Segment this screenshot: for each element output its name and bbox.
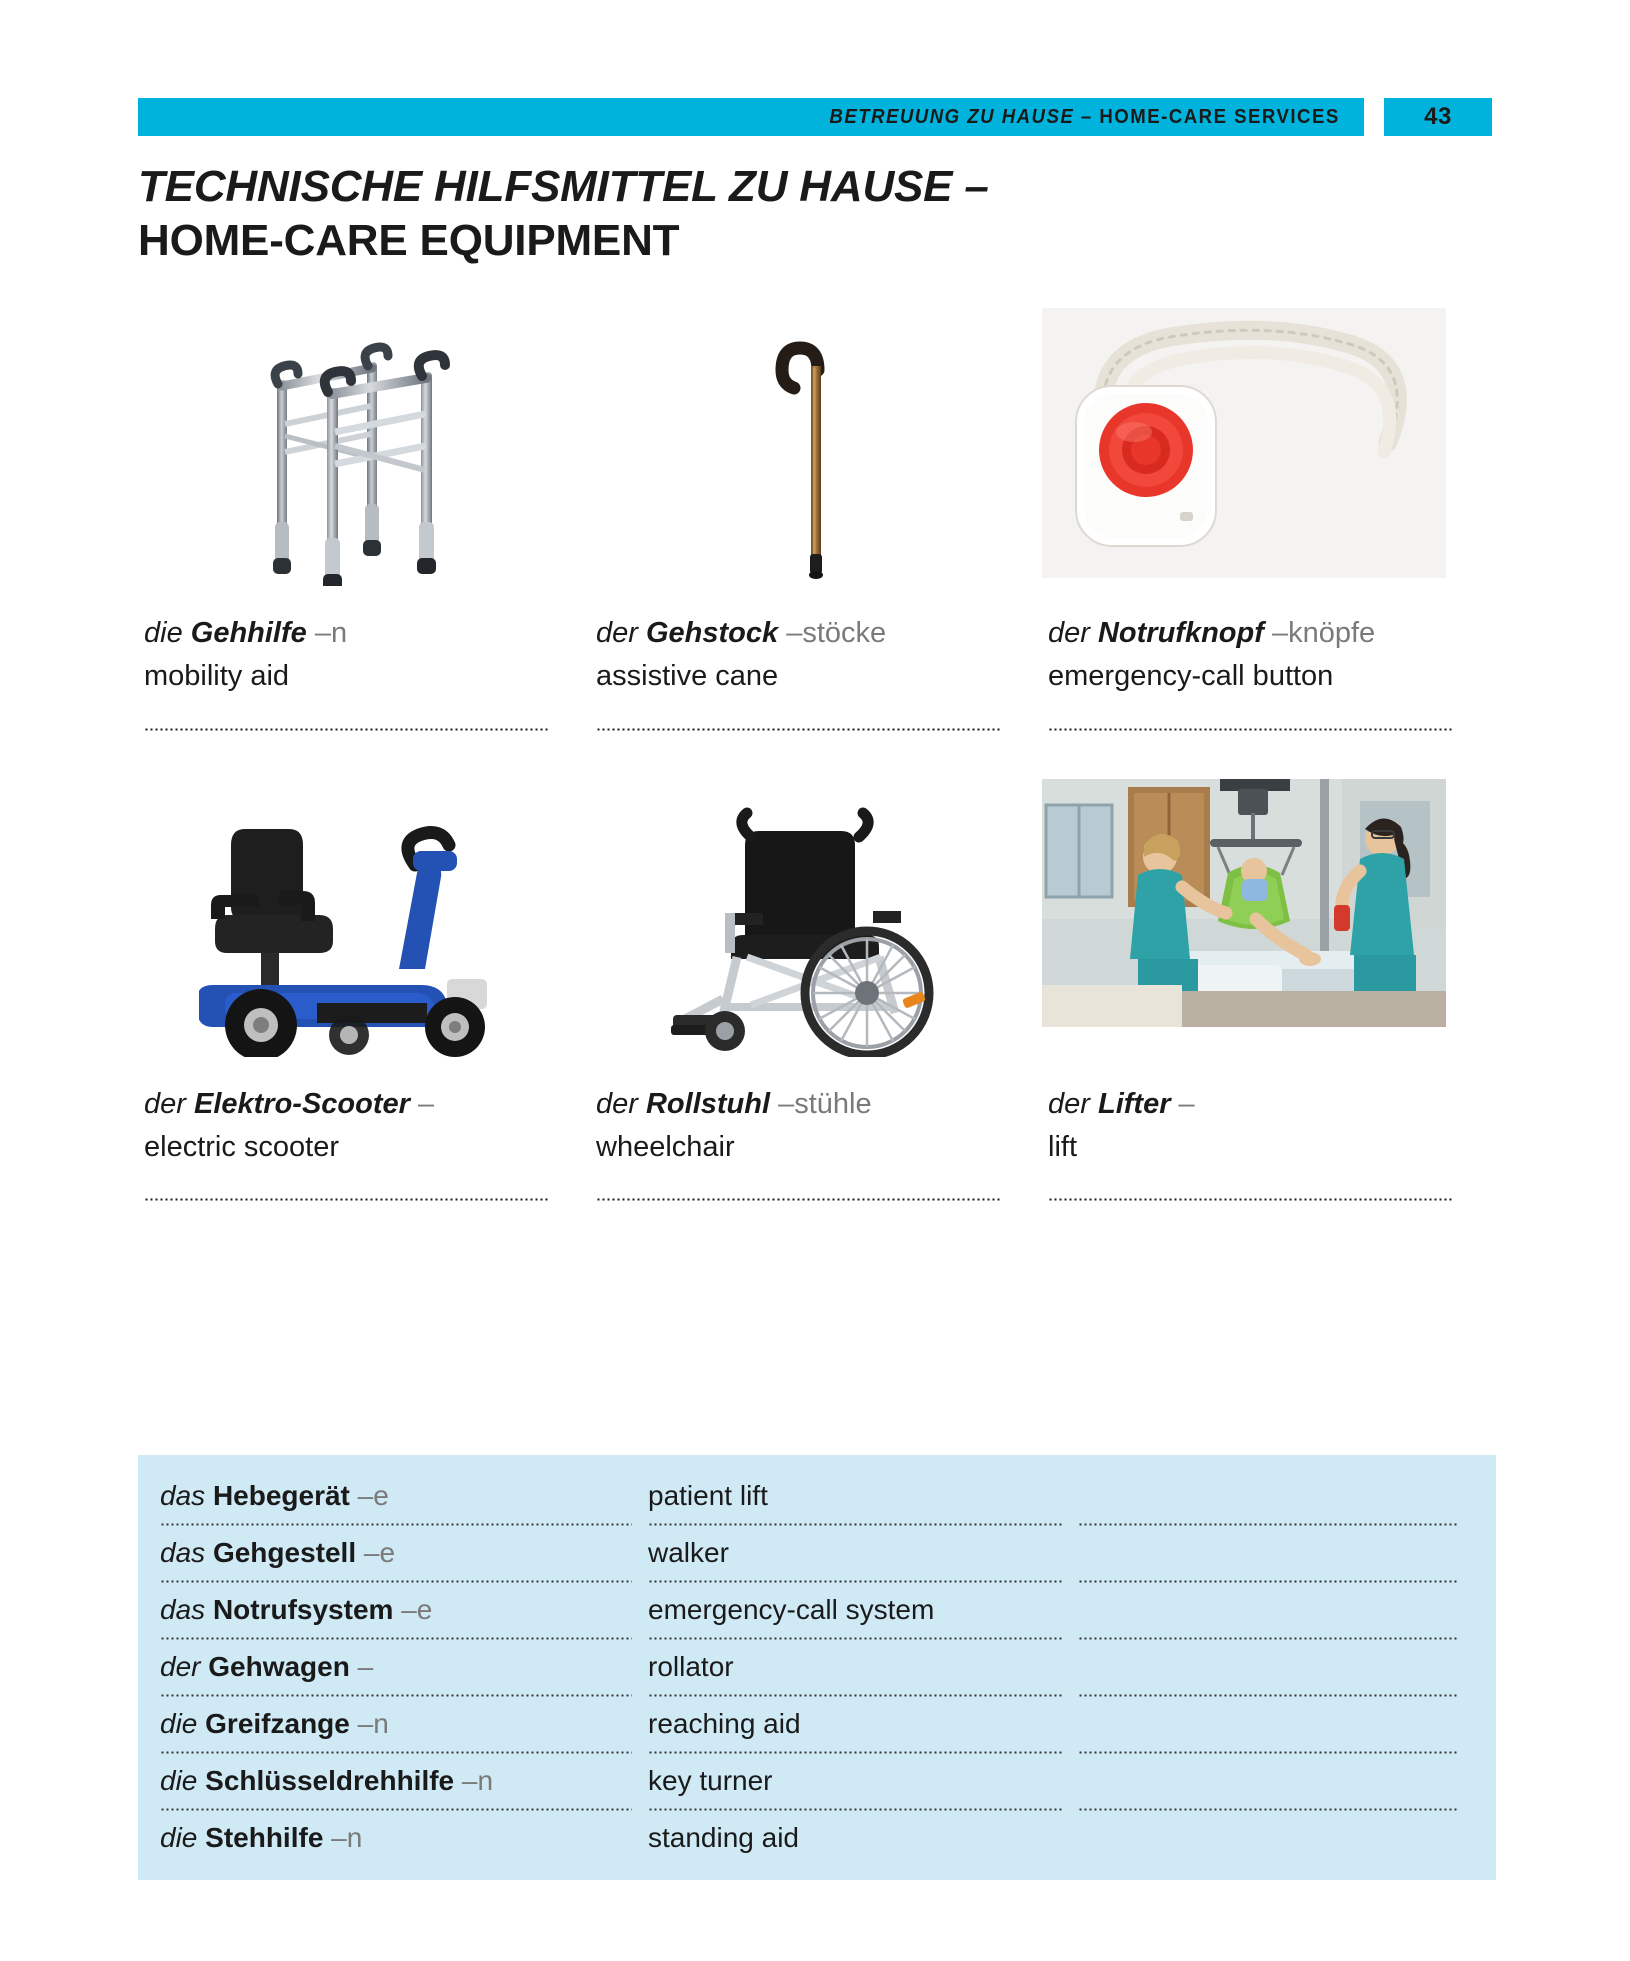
page-title-line-en: HOME-CARE EQUIPMENT <box>138 214 1338 268</box>
entry-term: die Gehhilfe –n <box>144 614 590 652</box>
table-noun: Notrufsystem <box>213 1594 393 1625</box>
table-cell-german: das Notrufsystem –e <box>160 1583 648 1640</box>
entry-article: der <box>596 1088 638 1120</box>
table-cell-notes[interactable] <box>1078 1697 1474 1754</box>
entry-divider <box>596 1198 1000 1201</box>
entry-row: der Elektro-Scooter – electric scooter <box>138 771 1496 1202</box>
entry-divider <box>596 728 1000 731</box>
entry-term: der Notrufknopf –knöpfe <box>1048 614 1494 652</box>
entry-plural: –stühle <box>778 1088 872 1120</box>
table-noun: Stehhilfe <box>205 1822 323 1853</box>
table-cell-english: emergency-call system <box>648 1583 1078 1640</box>
entry-caption: der Elektro-Scooter – electric scooter <box>138 1085 590 1167</box>
table-translation: emergency-call system <box>648 1594 934 1630</box>
entry-caption: der Lifter – lift <box>1042 1085 1494 1167</box>
entry-noun: Notrufknopf <box>1098 617 1264 649</box>
table-translation: standing aid <box>648 1822 799 1858</box>
table-article: das <box>160 1537 205 1568</box>
entry-row: die Gehhilfe –n mobility aid <box>138 300 1496 731</box>
table-term: die Schlüsseldrehhilfe –n <box>160 1765 493 1801</box>
entry-translation: assistive cane <box>596 657 1042 695</box>
table-article: das <box>160 1480 205 1511</box>
table-term: die Stehhilfe –n <box>160 1822 362 1858</box>
table-article: das <box>160 1594 205 1625</box>
table-cell-notes[interactable] <box>1078 1811 1474 1868</box>
table-cell-english: standing aid <box>648 1811 1078 1868</box>
table-cell-german: die Stehhilfe –n <box>160 1811 648 1868</box>
entry-translation: electric scooter <box>144 1128 590 1166</box>
table-row: die Greifzange –n reaching aid <box>138 1697 1496 1754</box>
walking-cane-icon <box>756 336 876 586</box>
table-row: der Gehwagen – rollator <box>138 1640 1496 1697</box>
mobility-scooter-icon <box>199 807 529 1057</box>
table-cell-notes[interactable] <box>1078 1583 1474 1640</box>
entry-caption: die Gehhilfe –n mobility aid <box>138 614 590 696</box>
table-row: die Schlüsseldrehhilfe –n key turner <box>138 1754 1496 1811</box>
table-article: die <box>160 1822 197 1853</box>
table-translation: patient lift <box>648 1480 768 1516</box>
table-term: das Hebegerät –e <box>160 1480 389 1516</box>
entry-article: der <box>1048 1088 1090 1120</box>
table-article: der <box>160 1651 200 1682</box>
table-plural: –n <box>358 1708 389 1739</box>
entry-figure <box>590 771 1042 1061</box>
table-term: der Gehwagen – <box>160 1651 373 1687</box>
entry-card-lifter: der Lifter – lift <box>1042 771 1494 1202</box>
table-noun: Greifzange <box>205 1708 350 1739</box>
table-cell-german: das Gehgestell –e <box>160 1526 648 1583</box>
entry-figure <box>138 300 590 590</box>
patient-lift-photo-icon <box>1042 779 1446 1027</box>
entry-noun: Elektro-Scooter <box>194 1088 410 1120</box>
entry-translation: emergency-call button <box>1048 657 1494 695</box>
entry-card-gehhilfe: die Gehhilfe –n mobility aid <box>138 300 590 731</box>
entry-divider <box>144 728 548 731</box>
table-cell-english: rollator <box>648 1640 1078 1697</box>
entry-term: der Lifter – <box>1048 1085 1494 1123</box>
emergency-call-button-icon <box>1042 308 1446 578</box>
entry-plural: – <box>418 1088 434 1120</box>
page-number-block: 43 <box>1384 98 1492 136</box>
entry-plural: –knöpfe <box>1272 617 1375 649</box>
table-cell-german: die Greifzange –n <box>160 1697 648 1754</box>
entry-caption: der Notrufknopf –knöpfe emergency-call b… <box>1042 614 1494 696</box>
patient-lift-photo <box>1042 779 1446 1049</box>
entry-noun: Lifter <box>1098 1088 1171 1120</box>
table-translation: reaching aid <box>648 1708 801 1744</box>
table-row: die Stehhilfe –n standing aid <box>138 1811 1496 1868</box>
entry-article: der <box>144 1088 186 1120</box>
table-cell-notes[interactable] <box>1078 1469 1474 1526</box>
running-header-title: BETREUUNG ZU HAUSE – HOME-CARE SERVICES <box>830 106 1340 129</box>
entry-caption: der Gehstock –stöcke assistive cane <box>590 614 1042 696</box>
table-plural: –e <box>358 1480 389 1511</box>
word-list-table: das Hebegerät –e patient lift das Gehges… <box>138 1455 1496 1880</box>
table-noun: Hebegerät <box>213 1480 350 1511</box>
entry-divider <box>144 1198 548 1201</box>
entry-divider <box>1048 1198 1452 1201</box>
table-translation: key turner <box>648 1765 773 1801</box>
entry-noun: Gehhilfe <box>191 617 307 649</box>
table-plural: –e <box>364 1537 395 1568</box>
table-plural: –n <box>331 1822 362 1853</box>
table-translation: walker <box>648 1537 729 1573</box>
entry-translation: wheelchair <box>596 1128 1042 1166</box>
entry-grid: die Gehhilfe –n mobility aid <box>138 300 1496 1201</box>
entry-noun: Rollstuhl <box>646 1088 770 1120</box>
entry-term: der Gehstock –stöcke <box>596 614 1042 652</box>
emergency-call-button-photo <box>1042 308 1446 578</box>
table-noun: Gehgestell <box>213 1537 356 1568</box>
table-row: das Notrufsystem –e emergency-call syste… <box>138 1583 1496 1640</box>
table-article: die <box>160 1708 197 1739</box>
table-noun: Schlüsseldrehhilfe <box>205 1765 454 1796</box>
table-cell-english: reaching aid <box>648 1697 1078 1754</box>
page-title: TECHNISCHE HILFSMITTEL ZU HAUSE – HOME-C… <box>138 160 1338 267</box>
table-cell-notes[interactable] <box>1078 1754 1474 1811</box>
table-cell-notes[interactable] <box>1078 1526 1474 1583</box>
entry-plural: –n <box>315 617 347 649</box>
table-article: die <box>160 1765 197 1796</box>
entry-figure <box>138 771 590 1061</box>
table-cell-notes[interactable] <box>1078 1640 1474 1697</box>
table-plural: –n <box>462 1765 493 1796</box>
table-term: das Notrufsystem –e <box>160 1594 432 1630</box>
table-cell-english: walker <box>648 1526 1078 1583</box>
entry-divider <box>1048 728 1452 731</box>
page-number: 43 <box>1424 103 1452 131</box>
running-header-title-en: HOME-CARE SERVICES <box>1100 106 1340 128</box>
table-cell-german: der Gehwagen – <box>160 1640 648 1697</box>
entry-term: der Rollstuhl –stühle <box>596 1085 1042 1123</box>
entry-figure <box>1042 771 1494 1061</box>
entry-card-rollstuhl: der Rollstuhl –stühle wheelchair <box>590 771 1042 1202</box>
entry-caption: der Rollstuhl –stühle wheelchair <box>590 1085 1042 1167</box>
table-row: das Gehgestell –e walker <box>138 1526 1496 1583</box>
running-header-title-de: BETREUUNG ZU HAUSE – <box>830 106 1100 128</box>
table-plural: –e <box>401 1594 432 1625</box>
table-row: das Hebegerät –e patient lift <box>138 1469 1496 1526</box>
table-term: das Gehgestell –e <box>160 1537 395 1573</box>
entry-plural: – <box>1179 1088 1195 1120</box>
entry-card-notrufknopf: der Notrufknopf –knöpfe emergency-call b… <box>1042 300 1494 731</box>
table-term: die Greifzange –n <box>160 1708 389 1744</box>
table-noun: Gehwagen <box>208 1651 350 1682</box>
running-header-bar: BETREUUNG ZU HAUSE – HOME-CARE SERVICES <box>138 98 1364 136</box>
entry-article: der <box>1048 617 1090 649</box>
table-plural: – <box>358 1651 374 1682</box>
table-cell-english: patient lift <box>648 1469 1078 1526</box>
entry-card-gehstock: der Gehstock –stöcke assistive cane <box>590 300 1042 731</box>
entry-card-elektro-scooter: der Elektro-Scooter – electric scooter <box>138 771 590 1202</box>
table-cell-german: das Hebegerät –e <box>160 1469 648 1526</box>
entry-translation: lift <box>1048 1128 1494 1166</box>
entry-article: der <box>596 617 638 649</box>
entry-noun: Gehstock <box>646 617 778 649</box>
entry-translation: mobility aid <box>144 657 590 695</box>
table-cell-english: key turner <box>648 1754 1078 1811</box>
entry-article: die <box>144 617 183 649</box>
table-translation: rollator <box>648 1651 734 1687</box>
entry-figure <box>590 300 1042 590</box>
page-title-line-de: TECHNISCHE HILFSMITTEL ZU HAUSE – <box>138 160 1338 214</box>
wheelchair-icon <box>651 807 981 1057</box>
table-cell-german: die Schlüsseldrehhilfe –n <box>160 1754 648 1811</box>
entry-term: der Elektro-Scooter – <box>144 1085 590 1123</box>
walking-frame-icon <box>249 336 479 586</box>
entry-figure <box>1042 300 1494 590</box>
entry-plural: –stöcke <box>786 617 886 649</box>
running-header: BETREUUNG ZU HAUSE – HOME-CARE SERVICES … <box>138 98 1492 136</box>
